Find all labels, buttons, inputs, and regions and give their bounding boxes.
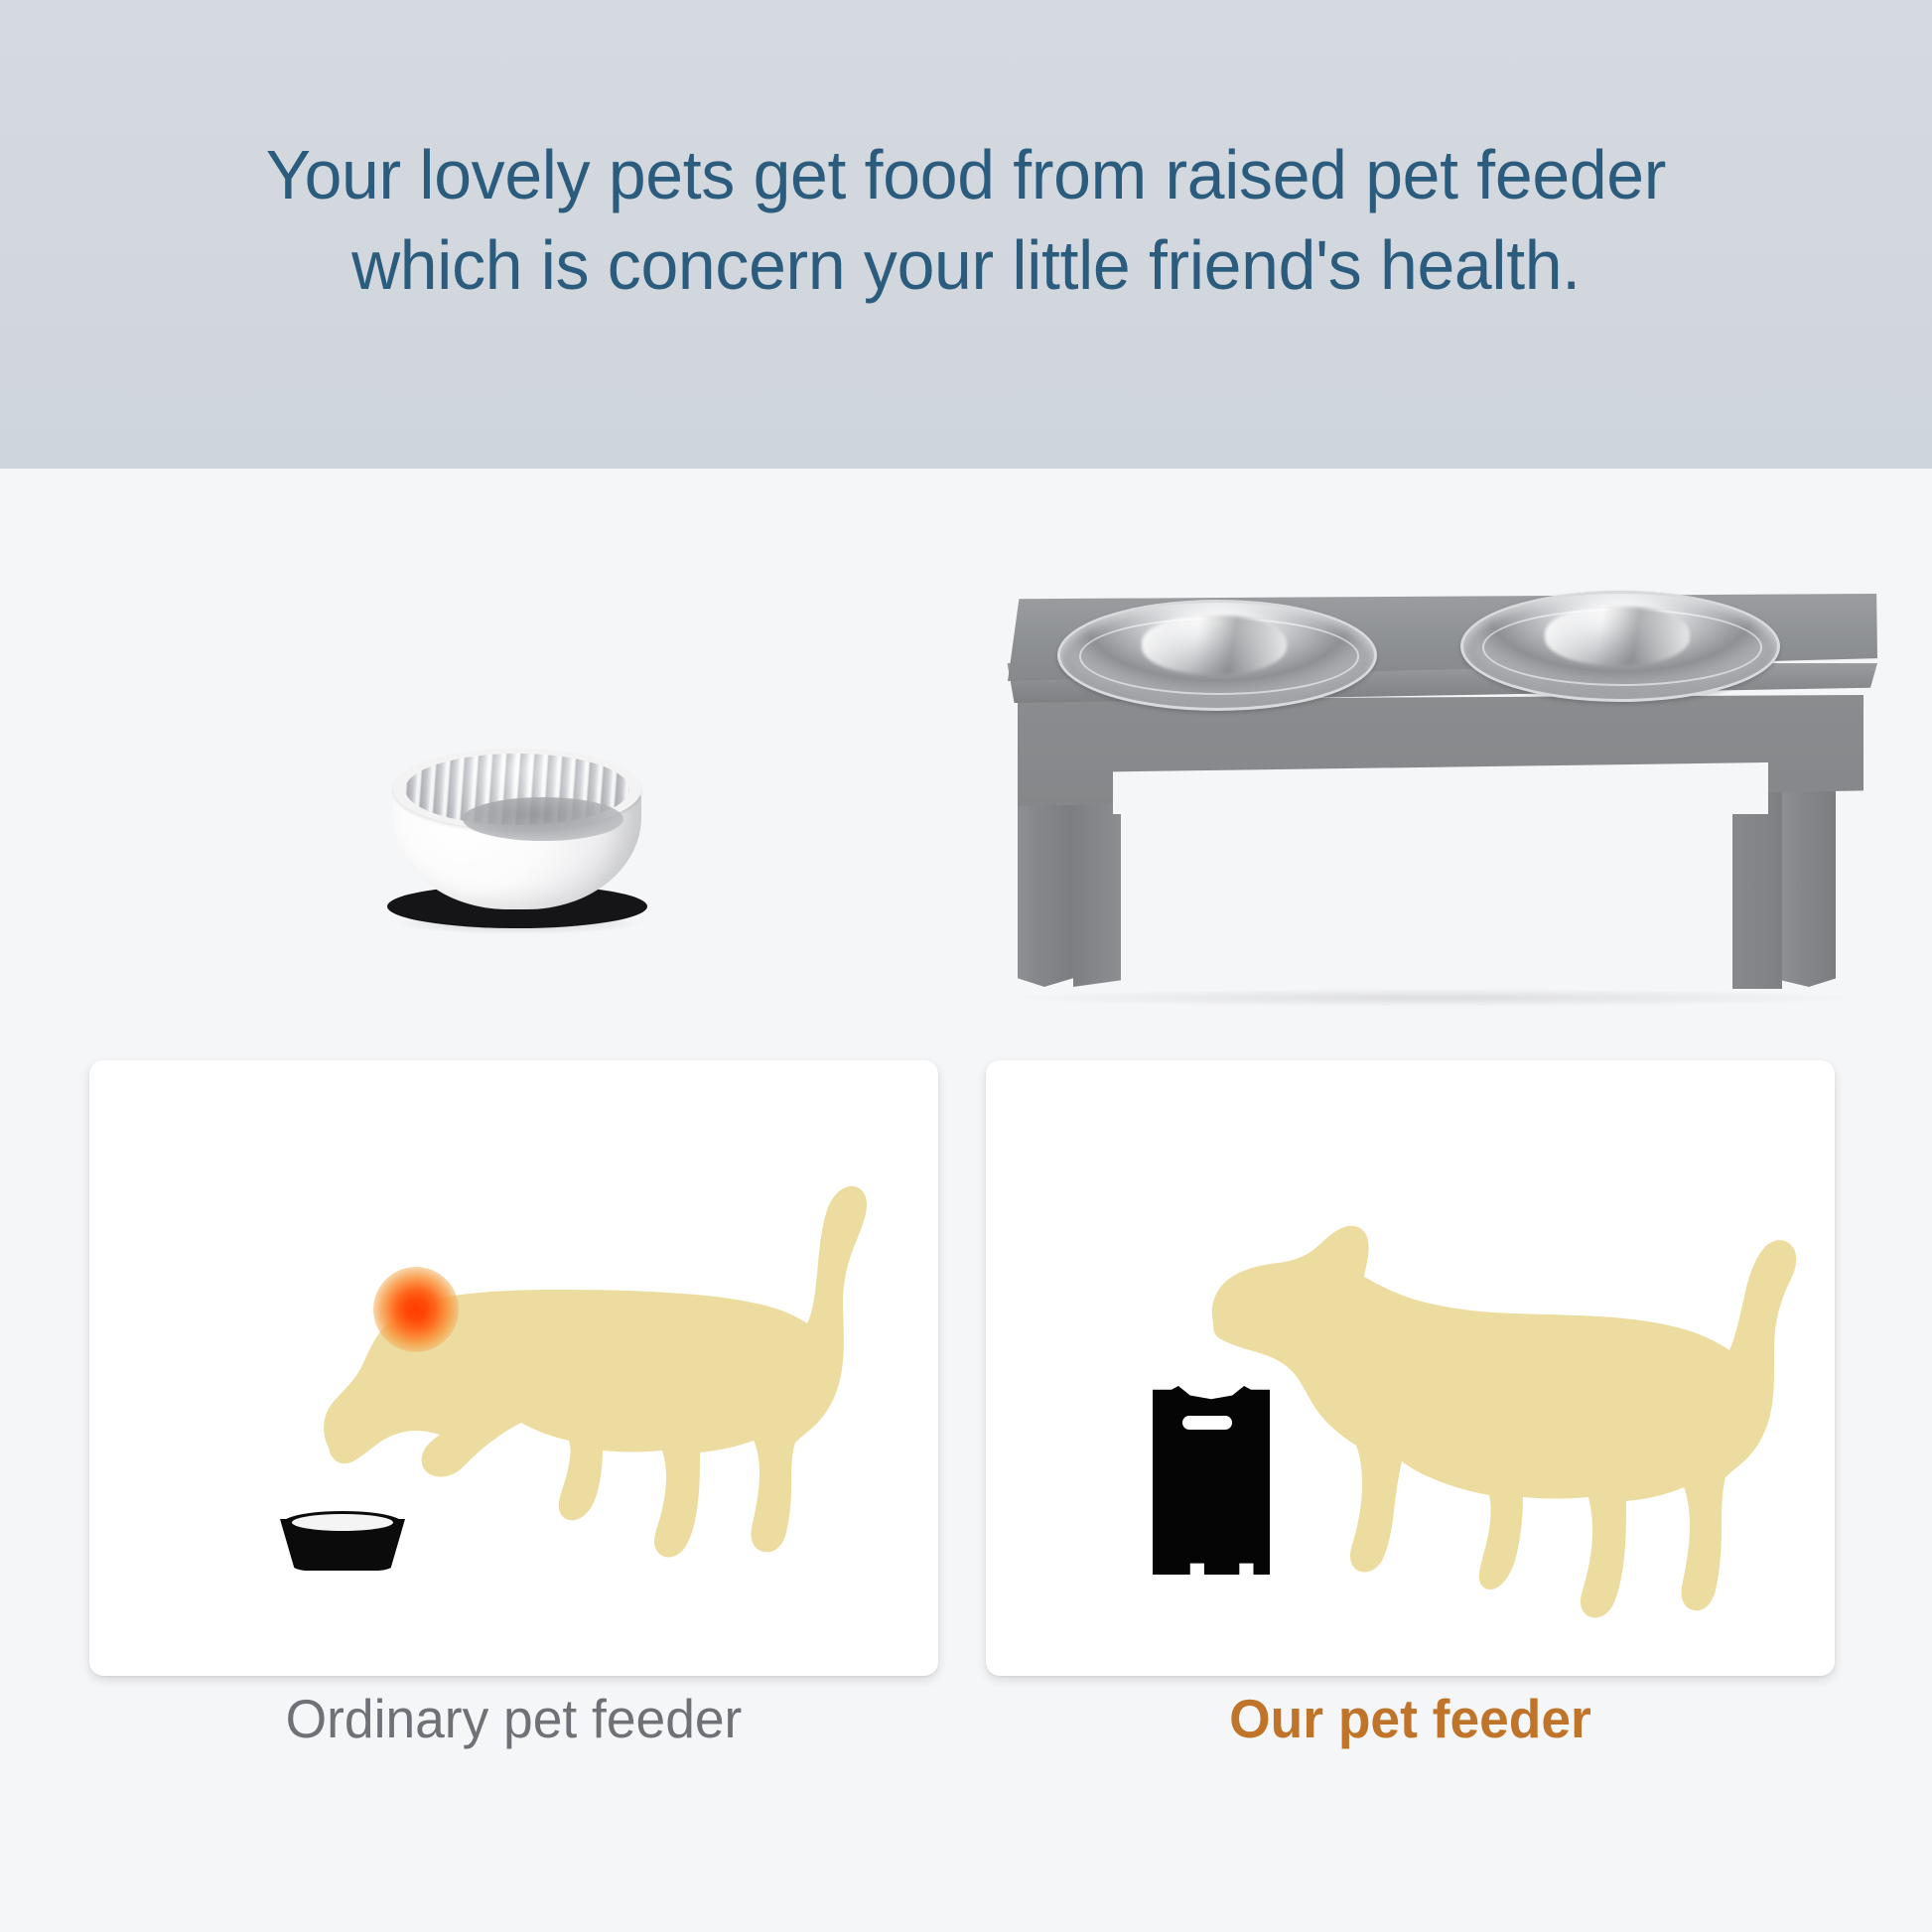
ordinary-bowl-steel-interior [405, 754, 629, 825]
raised-feeder-bowl-right-highlight [1545, 607, 1689, 665]
header-banner: Your lovely pets get food from raised pe… [0, 0, 1932, 469]
ordinary-bowl-steel-well [463, 797, 623, 841]
dog-silhouette-standing-icon [1199, 1207, 1815, 1664]
raised-feeder-bowl-right [1460, 591, 1780, 702]
content-stage: Ordinary pet feeder Our pet feeder [0, 469, 1932, 1932]
raised-feeder-bowl-left-highlight [1142, 616, 1286, 674]
floor-bowl-interior [292, 1514, 393, 1531]
comparison-card-ours [986, 1060, 1835, 1676]
comparison-section: Ordinary pet feeder Our pet feeder [0, 1060, 1932, 1735]
comparison-card-ordinary [89, 1060, 938, 1676]
raised-feeder-silhouette-icon [1153, 1386, 1270, 1583]
pain-indicator-icon [373, 1267, 459, 1352]
raised-feeder-silhouette-body [1153, 1386, 1270, 1575]
raised-feeder-shadow [1020, 989, 1850, 1007]
product-ordinary-bowl-image [379, 725, 655, 928]
raised-feeder-bowl-left [1057, 600, 1377, 711]
floor-bowl-icon [280, 1509, 405, 1571]
headline-line-2: which is concern your little friend's he… [266, 220, 1666, 311]
raised-feeder-leg-front-right [1782, 774, 1836, 987]
product-raised-feeder-image [996, 586, 1889, 1005]
headline-text: Your lovely pets get food from raised pe… [266, 130, 1666, 311]
caption-our-pet-feeder: Our pet feeder [999, 1692, 1822, 1746]
headline-line-1: Your lovely pets get food from raised pe… [266, 136, 1666, 213]
raised-feeder-silhouette-slot [1182, 1416, 1232, 1430]
caption-ordinary-pet-feeder: Ordinary pet feeder [102, 1692, 925, 1746]
